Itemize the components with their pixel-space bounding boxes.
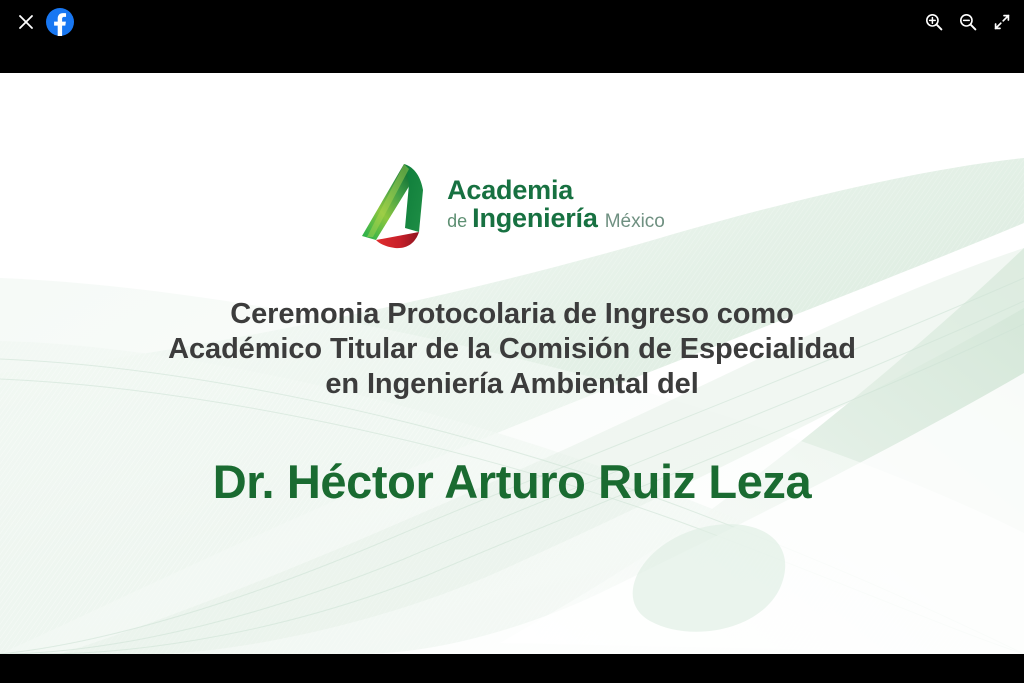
close-icon [17, 13, 35, 31]
academia-logo: Academia de Ingeniería México [0, 158, 1024, 250]
close-button[interactable] [12, 8, 40, 36]
facebook-icon [45, 7, 75, 37]
player-top-bar [0, 0, 1024, 73]
zoom-out-button[interactable] [954, 8, 982, 36]
academia-wordmark: Academia de Ingeniería México [447, 176, 665, 232]
logo-de-text: de [447, 212, 467, 231]
player-bottom-bar [0, 654, 1024, 683]
logo-ingenieria-text: Ingeniería [472, 204, 598, 232]
heading-line-2: Académico Titular de la Comisión de Espe… [62, 332, 962, 367]
facebook-logo-button[interactable] [44, 6, 76, 38]
honoree-name: Dr. Héctor Arturo Ruiz Leza [62, 454, 962, 509]
zoom-in-button[interactable] [920, 8, 948, 36]
zoom-out-icon [958, 12, 978, 32]
presentation-slide: Academia de Ingeniería México Ceremonia … [0, 73, 1024, 654]
heading-line-3: en Ingeniería Ambiental del [62, 367, 962, 402]
logo-academia-text: Academia [447, 176, 665, 204]
fullscreen-expand-icon [993, 13, 1011, 31]
zoom-in-icon [924, 12, 944, 32]
logo-mexico-text: México [605, 212, 665, 232]
heading-line-1: Ceremonia Protocolaria de Ingreso como [62, 297, 962, 332]
facebook-video-viewer: Academia de Ingeniería México Ceremonia … [0, 0, 1024, 683]
slide-heading: Ceremonia Protocolaria de Ingreso como A… [62, 297, 962, 402]
fullscreen-button[interactable] [988, 8, 1016, 36]
academia-triangle-mark [359, 158, 433, 250]
